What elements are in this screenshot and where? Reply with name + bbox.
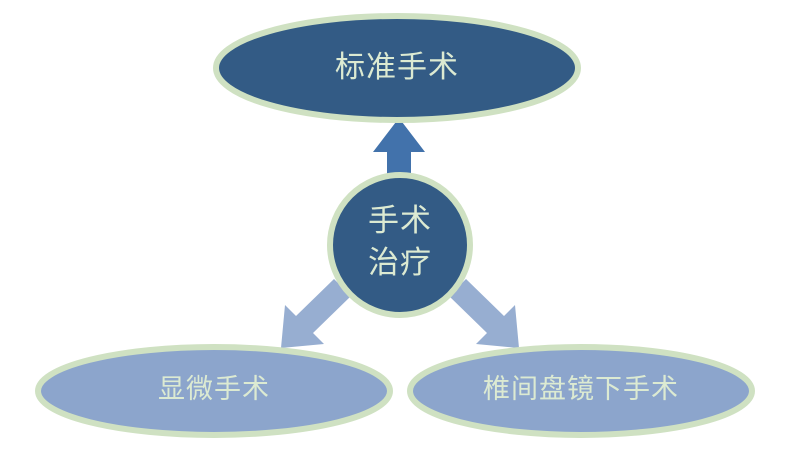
node-surgical-treatment[interactable]: 手术 治疗 xyxy=(330,175,470,315)
arrow-to-microsurgery xyxy=(281,279,351,348)
arrow-to-discoscopic-surgery xyxy=(449,279,519,348)
node-standard-surgery[interactable]: 标准手术 xyxy=(216,16,578,120)
surgical-treatment-label-line2: 治疗 xyxy=(368,245,432,280)
node-microsurgery[interactable]: 显微手术 xyxy=(38,347,390,435)
surgical-treatment-label-line1: 手术 xyxy=(368,203,432,238)
diagram-canvas: 标准手术 显微手术 椎间盘镜下手术 手术 治疗 xyxy=(0,0,788,470)
discoscopic-surgery-label: 椎间盘镜下手术 xyxy=(483,374,679,404)
node-discoscopic-surgery[interactable]: 椎间盘镜下手术 xyxy=(410,347,752,435)
standard-surgery-label: 标准手术 xyxy=(335,51,459,84)
microsurgery-label: 显微手术 xyxy=(158,374,270,404)
relationship-diagram: 标准手术 显微手术 椎间盘镜下手术 手术 治疗 xyxy=(0,0,788,470)
